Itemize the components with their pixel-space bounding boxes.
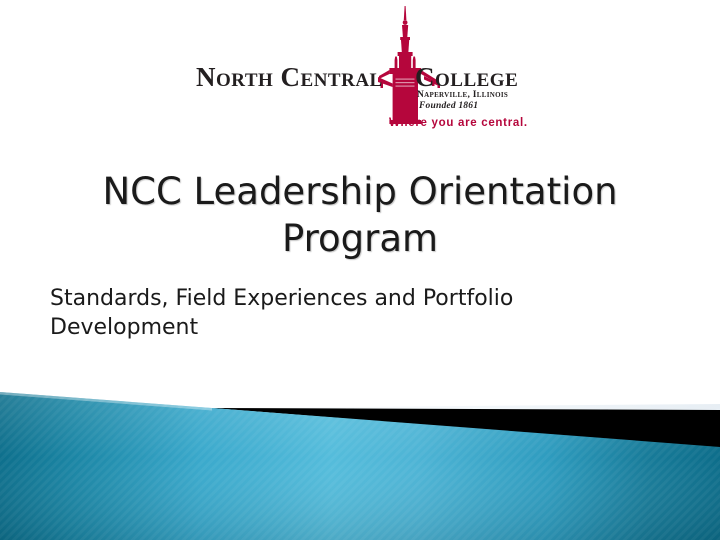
logo-city-state: Naperville, Illinois (417, 90, 508, 100)
logo-wordmark-north-central: North Central (196, 62, 383, 93)
swoosh-teal-body (0, 392, 720, 540)
swoosh-teal-highlight (0, 392, 212, 411)
slide-canvas: North Central College Naperville, Illino… (0, 0, 720, 540)
swoosh-white-band (212, 404, 720, 412)
logo-tagline: Where you are central. (389, 117, 528, 129)
page-title-line-2: Program (282, 217, 438, 260)
page-title: NCC Leadership Orientation Program (40, 168, 680, 263)
college-logo: North Central College Naperville, Illino… (0, 4, 720, 140)
swoosh-teal-shading (0, 390, 720, 540)
page-subtitle-line-1: Standards, Field Experiences and Portfol… (50, 286, 513, 311)
swoosh-teal-texture (0, 380, 720, 540)
page-subtitle: Standards, Field Experiences and Portfol… (50, 285, 670, 342)
page-title-line-1: NCC Leadership Orientation (102, 170, 617, 213)
logo-wordmark-college: College (415, 62, 518, 93)
swoosh-black-wedge (212, 408, 720, 448)
logo-founded-year: Founded 1861 (419, 101, 478, 111)
page-subtitle-line-2: Development (50, 315, 198, 340)
